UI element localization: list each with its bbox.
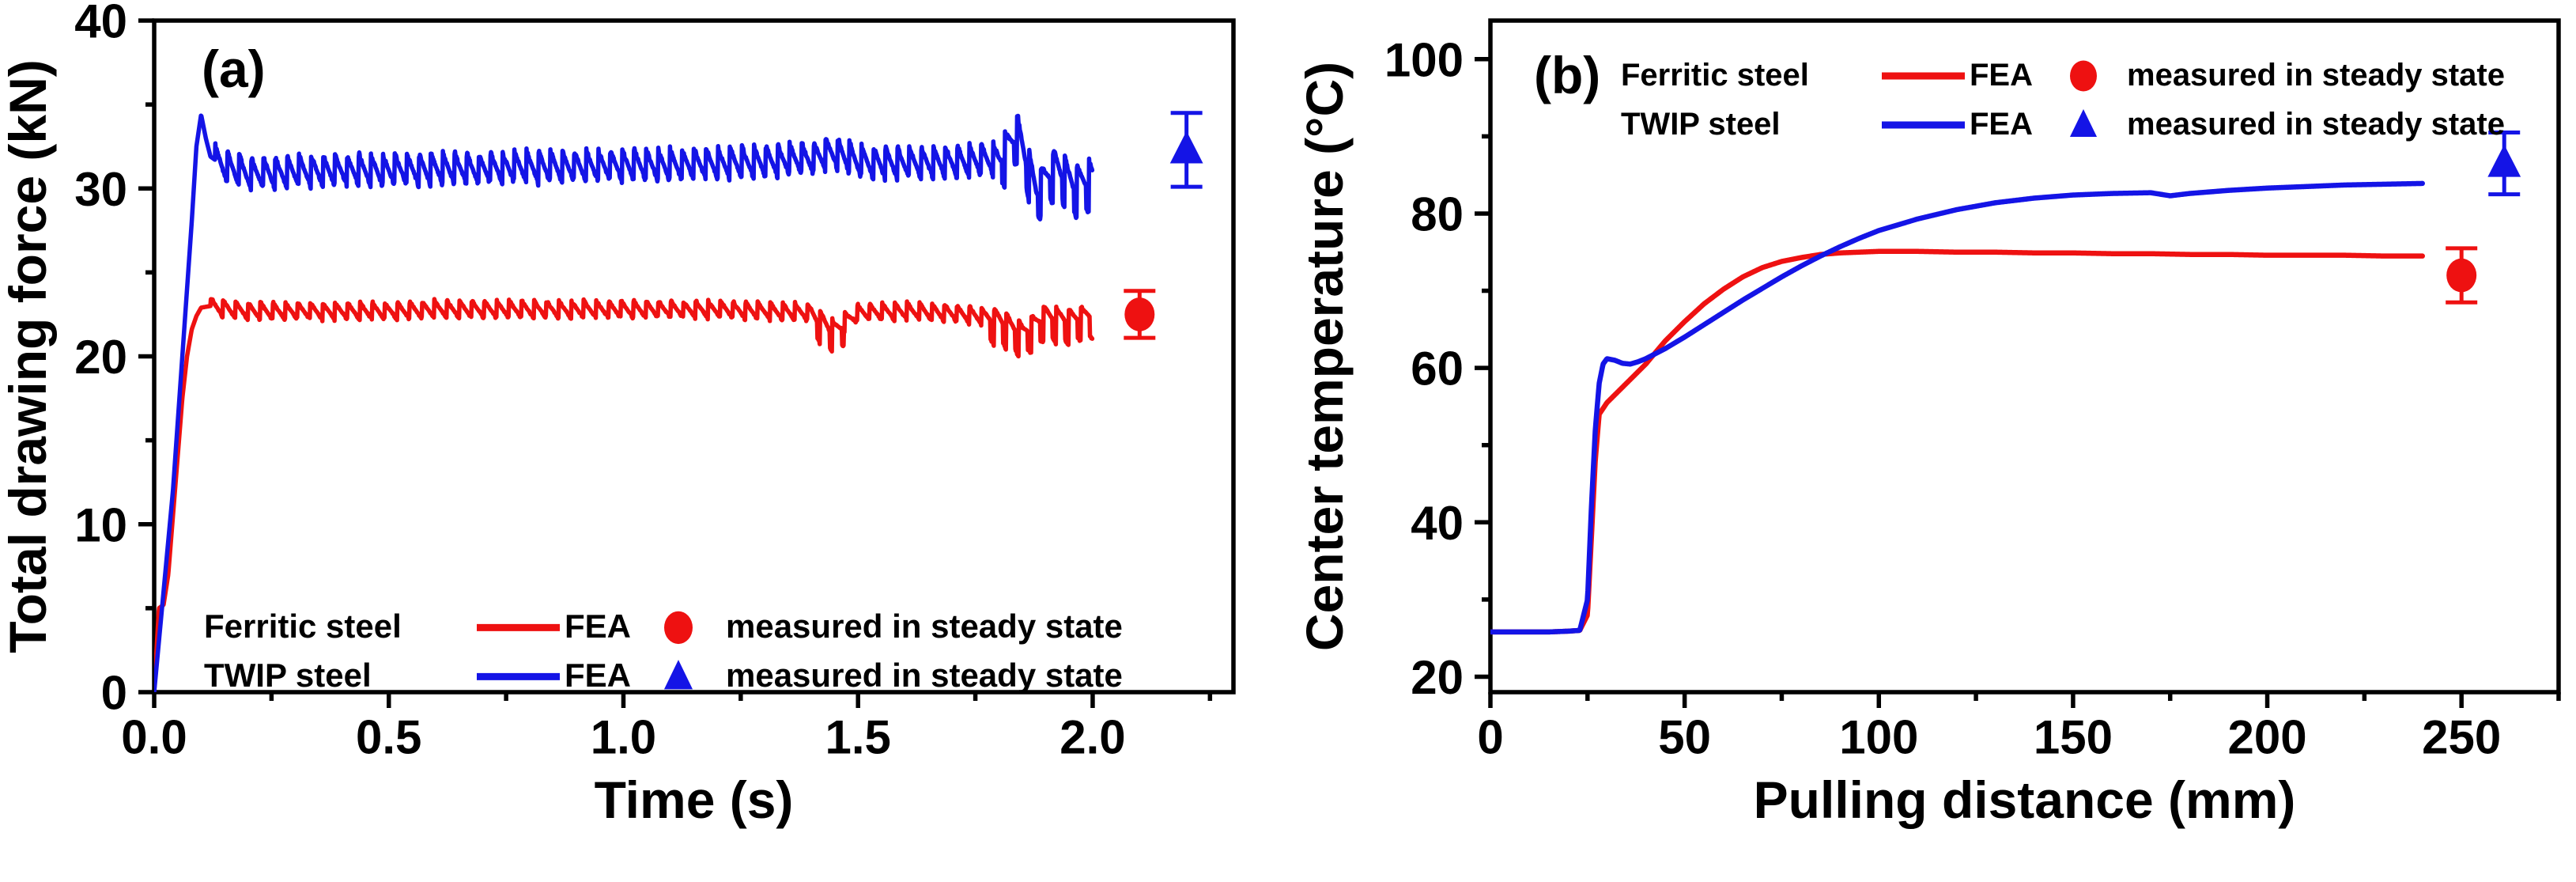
x-tick-label: 0.5 <box>356 711 421 764</box>
measured-point-twip <box>1170 113 1203 187</box>
y-tick-label: 20 <box>74 331 127 384</box>
y-axis-title: Total drawing force (kN) <box>0 59 57 653</box>
y-tick-label: 80 <box>1411 188 1464 241</box>
circle-marker <box>2446 259 2476 293</box>
legend-measured-label: measured in steady state <box>726 657 1123 694</box>
y-tick-label: 20 <box>1411 651 1464 704</box>
x-axis-title: Time (s) <box>595 770 794 829</box>
panel-tag: (a) <box>202 40 266 98</box>
legend-material-label: Ferritic steel <box>204 608 402 645</box>
measured-point-twip <box>2487 133 2521 195</box>
data-layer <box>1490 184 2423 632</box>
legend-measured-label: measured in steady state <box>2127 58 2505 93</box>
x-tick-label: 1.0 <box>591 711 656 764</box>
panel-b-plot: 20406080100050100150200250Pulling distan… <box>1297 0 2576 882</box>
legend: Ferritic steelFEAmeasured in steady stat… <box>204 608 1123 694</box>
x-tick-label: 1.5 <box>825 711 891 764</box>
x-tick-label: 100 <box>1839 711 1918 764</box>
legend-material-label: TWIP steel <box>204 657 372 694</box>
axes-frame: 0102030400.00.51.01.52.0 <box>74 0 1233 764</box>
legend-measured-label: measured in steady state <box>2127 107 2505 142</box>
legend-triangle-marker <box>2070 109 2097 137</box>
legend-material-label: Ferritic steel <box>1621 58 1809 93</box>
legend-row: Ferritic steelFEAmeasured in steady stat… <box>1621 58 2505 93</box>
legend-row: TWIP steelFEAmeasured in steady state <box>1621 107 2505 142</box>
x-axis-title: Pulling distance (mm) <box>1754 770 2296 829</box>
data-layer <box>154 115 1092 692</box>
panel-a-plot: 0102030400.00.51.01.52.0Time (s)Total dr… <box>0 0 1265 882</box>
legend-row: TWIP steelFEAmeasured in steady state <box>204 657 1123 694</box>
x-tick-label: 250 <box>2422 711 2501 764</box>
measured-point-ferritic <box>1124 291 1155 338</box>
legend-triangle-marker <box>664 660 693 689</box>
circle-marker <box>1124 297 1154 331</box>
y-tick-label: 40 <box>74 0 127 48</box>
legend-circle-marker <box>664 611 693 644</box>
y-tick-label: 30 <box>74 163 127 216</box>
legend-fea-label: FEA <box>565 608 631 645</box>
y-tick-label: 60 <box>1411 343 1464 396</box>
legend-fea-label: FEA <box>565 657 631 694</box>
legend-circle-marker <box>2070 60 2097 91</box>
legend-measured-label: measured in steady state <box>726 608 1123 645</box>
legend-fea-label: FEA <box>1970 58 2033 93</box>
x-tick-label: 0.0 <box>121 711 187 764</box>
legend-material-label: TWIP steel <box>1621 107 1781 142</box>
y-axis-title: Center temperature (°C) <box>1297 62 1354 651</box>
x-tick-label: 50 <box>1658 711 1711 764</box>
x-tick-label: 0 <box>1477 711 1503 764</box>
triangle-marker <box>1170 131 1203 164</box>
x-tick-label: 200 <box>2227 711 2306 764</box>
chart-panel-b: 20406080100050100150200250Pulling distan… <box>1297 0 2576 882</box>
figure-root: 0102030400.00.51.01.52.0Time (s)Total dr… <box>0 0 2576 882</box>
series-line-ferritic <box>1490 252 2423 632</box>
y-tick-label: 40 <box>1411 497 1464 550</box>
triangle-marker <box>2487 145 2521 177</box>
series-line-twip <box>154 115 1092 692</box>
x-tick-label: 150 <box>2034 711 2113 764</box>
legend-fea-label: FEA <box>1970 107 2033 142</box>
x-tick-label: 2.0 <box>1059 711 1125 764</box>
measured-point-ferritic <box>2446 248 2477 302</box>
legend-row: Ferritic steelFEAmeasured in steady stat… <box>204 608 1123 645</box>
legend: Ferritic steelFEAmeasured in steady stat… <box>1621 58 2505 142</box>
y-tick-label: 10 <box>74 498 127 551</box>
y-tick-label: 100 <box>1384 33 1464 86</box>
panel-tag: (b) <box>1534 46 1600 104</box>
chart-panel-a: 0102030400.00.51.01.52.0Time (s)Total dr… <box>0 0 1265 882</box>
